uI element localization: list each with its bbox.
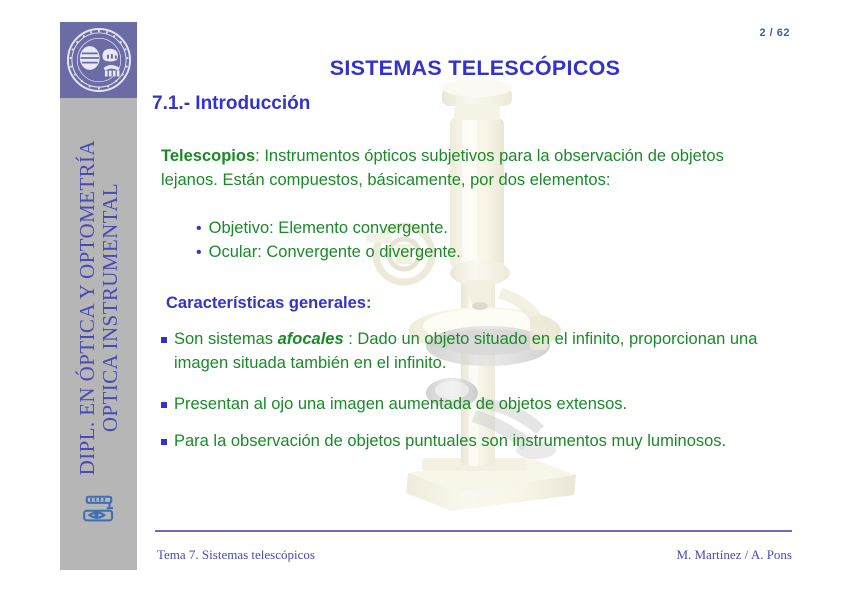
feature-text: Son sistemas afocales : Dado un objeto s…: [174, 328, 761, 376]
element-list: • Objetivo: Elemento convergente. • Ocul…: [196, 216, 756, 265]
footer-authors: M. Martínez / A. Pons: [676, 547, 792, 563]
footer-divider: [155, 530, 792, 532]
square-bullet-icon: [161, 337, 167, 343]
features-heading-label: Características generales: [166, 294, 366, 312]
feature-emphasis: afocales: [278, 330, 344, 348]
sidebar-panel: DIPL. EN ÓPTICA Y OPTOMETRÍA OPTICA INST…: [60, 98, 137, 570]
square-bullet-icon: [161, 402, 167, 408]
sidebar-logo-block: [60, 22, 137, 98]
optical-instrument-icon: [78, 488, 120, 530]
feature-pre: Son sistemas: [174, 330, 278, 348]
page-counter: 2 / 62: [759, 27, 790, 39]
list-item: • Objetivo: Elemento convergente.: [196, 216, 756, 240]
feature-item: Para la observación de objetos puntuales…: [161, 430, 761, 454]
features-heading-colon: :: [366, 294, 372, 312]
intro-lead: Telescopios: [161, 147, 255, 165]
sidebar-line-course: OPTICA INSTRUMENTAL: [100, 183, 121, 432]
dot-bullet-icon: •: [196, 221, 202, 237]
list-item-label: Objetivo: Elemento convergente.: [209, 216, 448, 240]
features-heading: Características generales:: [166, 294, 371, 313]
intro-paragraph: Telescopios: Instrumentos ópticos subjet…: [161, 144, 781, 193]
feature-text: Presentan al ojo una imagen aumentada de…: [174, 393, 627, 417]
footer-topic: Tema 7. Sistemas telescópicos: [157, 547, 315, 563]
list-item-label: Ocular: Convergente o divergente.: [209, 240, 461, 264]
square-bullet-icon: [161, 439, 167, 445]
section-heading: 7.1.- Introducción: [152, 93, 310, 115]
sidebar-vertical-text: DIPL. EN ÓPTICA Y OPTOMETRÍA OPTICA INST…: [60, 98, 137, 518]
dot-bullet-icon: •: [196, 245, 202, 261]
list-item: • Ocular: Convergente o divergente.: [196, 240, 756, 264]
feature-item: Presentan al ojo una imagen aumentada de…: [161, 393, 761, 417]
university-seal-icon: [66, 27, 132, 93]
feature-item: Son sistemas afocales : Dado un objeto s…: [161, 328, 761, 376]
feature-text: Para la observación de objetos puntuales…: [174, 430, 726, 454]
slide-canvas: DIPL. EN ÓPTICA Y OPTOMETRÍA OPTICA INST…: [0, 0, 848, 599]
page-title: SISTEMAS TELESCÓPICOS: [155, 56, 795, 81]
sidebar-line-degree: DIPL. EN ÓPTICA Y OPTOMETRÍA: [77, 140, 98, 475]
